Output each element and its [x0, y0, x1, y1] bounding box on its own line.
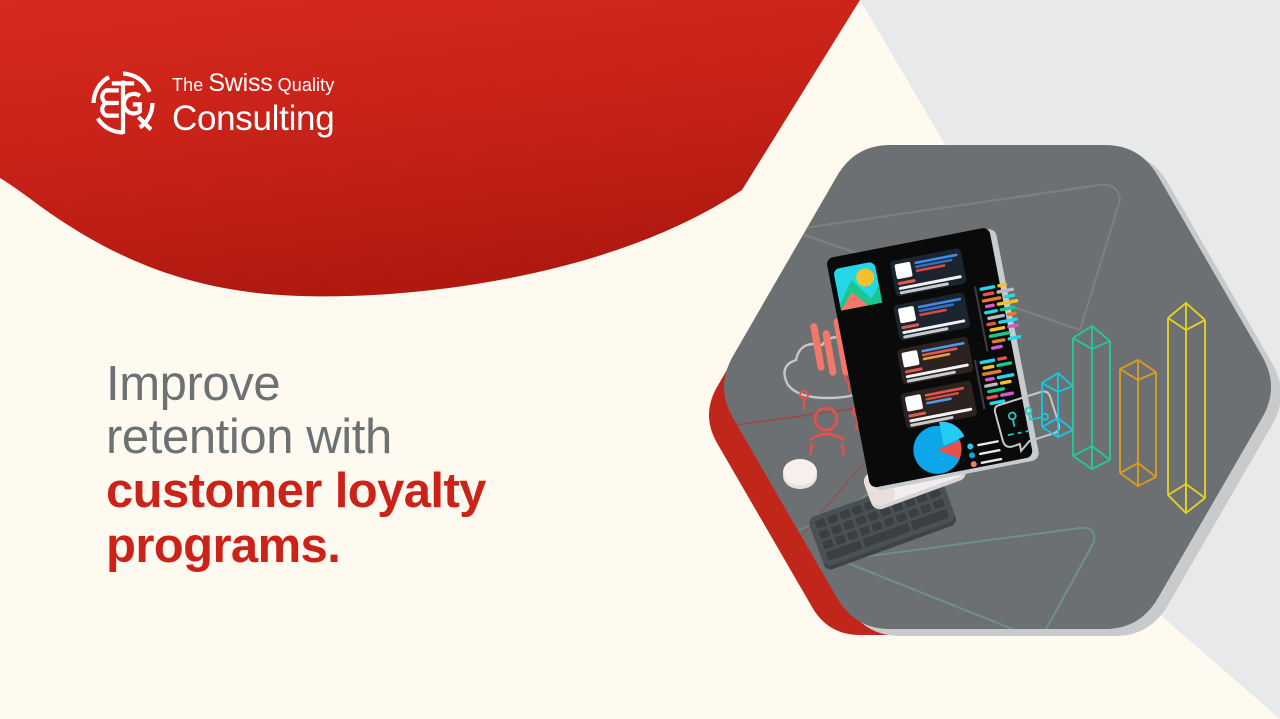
headline-block: Improve retention with customer loyalty …: [106, 358, 666, 574]
stq-monogram-logo-icon: [88, 68, 158, 138]
brand-logo[interactable]: The Swiss Quality Consulting: [88, 68, 334, 138]
slide-canvas: The Swiss Quality Consulting Improve ret…: [0, 0, 1280, 719]
brand-logo-text: The Swiss Quality Consulting: [172, 71, 334, 136]
headline-line-1: Improve: [106, 358, 666, 411]
headline-line-4: programs.: [106, 519, 666, 574]
headline-line-3: customer loyalty: [106, 464, 666, 519]
image-placeholder-icon: [833, 261, 882, 310]
brand-word-the: The: [172, 76, 203, 94]
brand-word-quality: Quality: [278, 76, 335, 94]
mouse-top: [783, 459, 817, 485]
brand-word-consulting: Consulting: [172, 101, 334, 136]
brand-word-swiss: Swiss: [208, 71, 272, 96]
brand-tagline: The Swiss Quality: [172, 71, 334, 96]
headline-line-2: retention with: [106, 411, 666, 464]
